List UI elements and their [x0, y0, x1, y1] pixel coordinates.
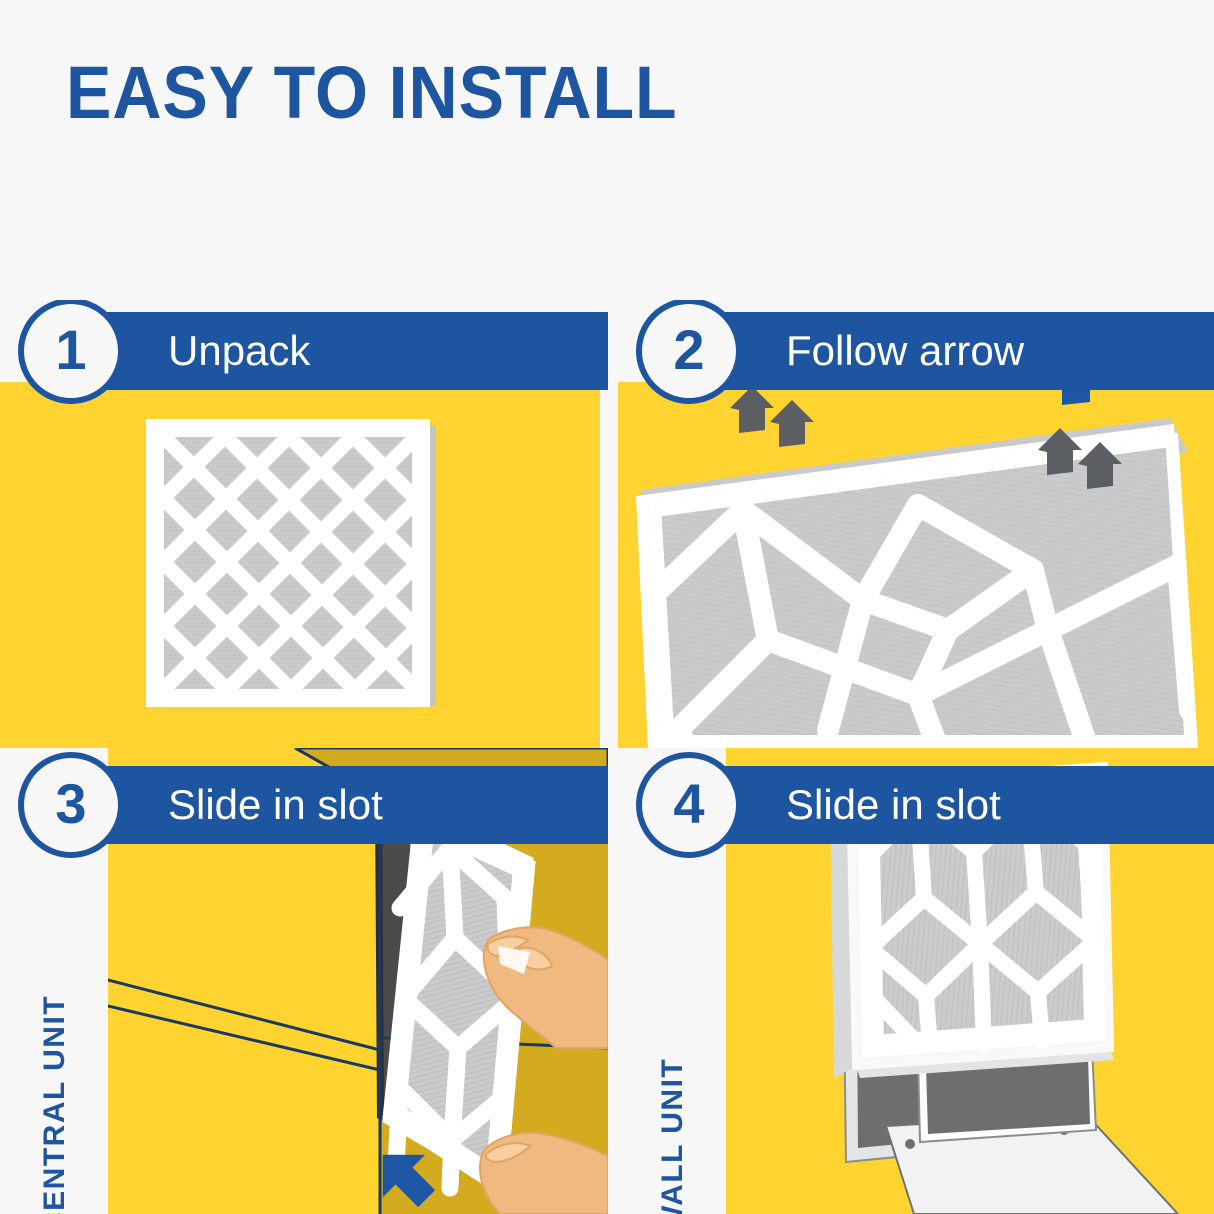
step-panel-1: Unpack 1: [0, 300, 608, 748]
step-1-number-badge: 1: [18, 300, 124, 404]
page-title: EASY TO INSTALL: [66, 52, 677, 134]
step-1-number: 1: [55, 322, 86, 378]
step-2-number-badge: 2: [636, 300, 742, 404]
step-panel-3: Slide in slot 3 CENTRAL UNIT: [0, 748, 608, 1214]
step-4-header-bar: Slide in slot: [690, 766, 1214, 844]
step-2-label: Follow arrow: [786, 328, 1024, 374]
step-panel-2: Follow arrow 2: [618, 300, 1214, 748]
step-3-label: Slide in slot: [168, 782, 383, 828]
step-3-number-badge: 3: [18, 752, 124, 858]
step-3-side-label: CENTRAL UNIT: [38, 995, 72, 1214]
step-4-number-badge: 4: [636, 752, 742, 858]
step-4-label: Slide in slot: [786, 782, 1001, 828]
step-3-number: 3: [55, 776, 86, 832]
step-2-number: 2: [673, 322, 704, 378]
step-1-label: Unpack: [168, 328, 310, 374]
step-panel-4: Slide in slot 4 WALL UNIT: [618, 748, 1214, 1214]
step-2-header-bar: Follow arrow: [690, 312, 1214, 390]
step-1-header-bar: Unpack: [72, 312, 608, 390]
step-4-number: 4: [673, 776, 704, 832]
step-4-side-label: WALL UNIT: [656, 1058, 690, 1214]
infographic-stage: EASY TO INSTALL: [0, 0, 1214, 1214]
step-3-header-bar: Slide in slot: [72, 766, 608, 844]
